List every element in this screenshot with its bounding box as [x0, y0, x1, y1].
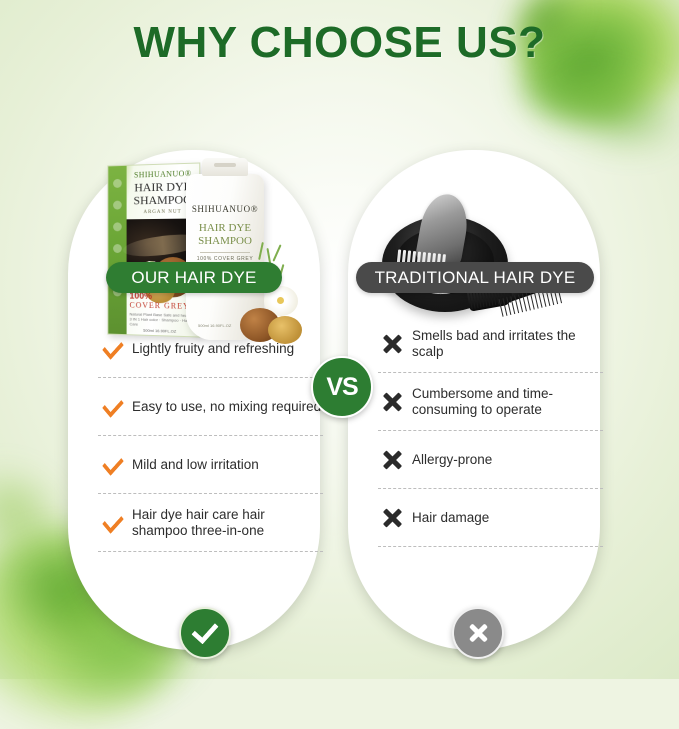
check-icon: [100, 511, 124, 535]
feature-text: Smells bad and irritates the scalp: [412, 328, 603, 360]
header-pill-our-hair-dye[interactable]: OUR HAIR DYE: [106, 262, 282, 293]
list-item: Hair dye hair care hair shampoo three-in…: [98, 494, 323, 552]
feature-text: Mild and low irritation: [132, 457, 259, 473]
feature-text: Cumbersome and time-consuming to operate: [412, 386, 603, 418]
feature-text: Easy to use, no mixing required: [132, 399, 321, 415]
verdict-badge-negative: [452, 607, 504, 659]
list-item: Hair damage: [378, 489, 603, 547]
bottle-cap: [202, 158, 248, 176]
check-circle-icon: [191, 617, 218, 645]
check-icon: [100, 453, 124, 477]
product-box-cover-grey: COVER GREY: [130, 301, 190, 311]
bottle-title: HAIR DYE SHAMPOO: [186, 222, 264, 248]
check-icon: [100, 395, 124, 419]
list-item: Cumbersome and time-consuming to operate: [378, 373, 603, 431]
x-icon: [380, 448, 404, 472]
bottle-divider: [200, 252, 250, 253]
feature-text: Allergy-prone: [412, 452, 492, 468]
x-icon: [380, 506, 404, 530]
feature-text: Lightly fruity and refreshing: [132, 341, 294, 357]
verdict-badge-positive: [179, 607, 231, 659]
vs-badge: VS: [311, 356, 373, 418]
header-pill-traditional-hair-dye[interactable]: TRADITIONAL HAIR DYE: [356, 262, 594, 293]
x-icon: [380, 332, 404, 356]
list-item: Smells bad and irritates the scalp: [378, 315, 603, 373]
bottle-brand: SHIHUANUO®: [186, 204, 264, 214]
feature-text: Hair damage: [412, 510, 489, 526]
list-item: Lightly fruity and refreshing: [98, 320, 323, 378]
x-circle-icon: [466, 621, 490, 645]
list-item: Mild and low irritation: [98, 436, 323, 494]
product-box-title-line2: SHAMPOO: [134, 192, 192, 207]
feature-list-traditional: Smells bad and irritates the scalp Cumbe…: [378, 315, 603, 547]
check-icon: [100, 337, 124, 361]
product-box-brand: SHIHUANUO®: [130, 169, 197, 180]
list-item: Allergy-prone: [378, 431, 603, 489]
list-item: Easy to use, no mixing required: [98, 378, 323, 436]
bottle-title-line1: HAIR DYE: [199, 222, 251, 234]
page-title: WHY CHOOSE US?: [0, 18, 679, 68]
bottle-title-line2: SHAMPOO: [198, 235, 252, 247]
feature-list-our-product: Lightly fruity and refreshing Easy to us…: [98, 320, 323, 552]
feature-text: Hair dye hair care hair shampoo three-in…: [132, 507, 323, 539]
x-icon: [380, 390, 404, 414]
